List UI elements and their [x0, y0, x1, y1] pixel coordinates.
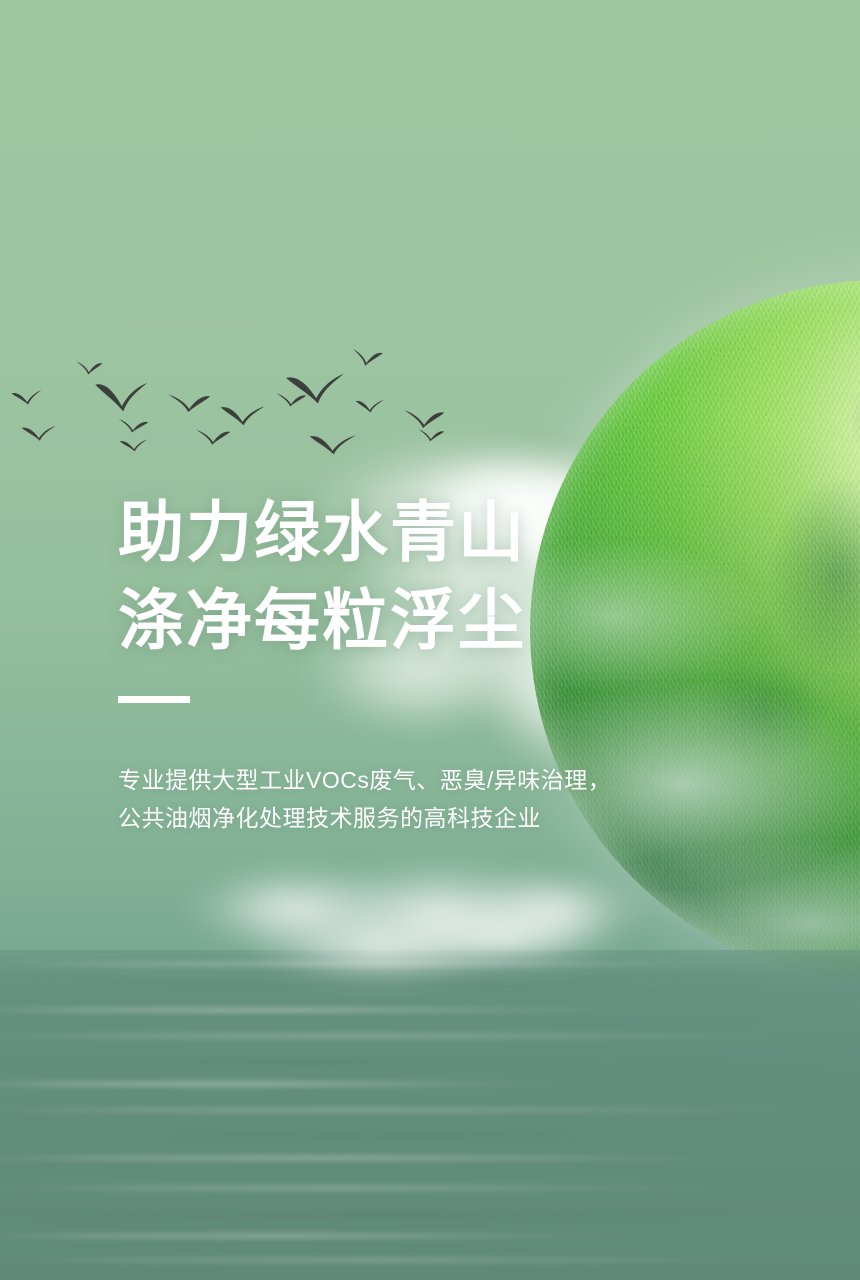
water-ripple [0, 1060, 670, 1064]
water-ripple [0, 1234, 650, 1238]
water-ripple [0, 1186, 740, 1190]
headline-line-1: 助力绿水青山 [118, 488, 678, 576]
water-ripple [0, 1108, 830, 1112]
water-ripple [0, 1258, 830, 1262]
water-ripple [0, 984, 820, 988]
subcopy-line-2: 公共油烟净化处理技术服务的高科技企业 [118, 799, 678, 837]
subcopy-line-1: 专业提供大型工业VOCs废气、恶臭/异味治理， [118, 761, 678, 799]
water-ripple [0, 1212, 820, 1216]
water-ripple [0, 1034, 820, 1038]
water-ripple [0, 1008, 640, 1012]
headline-line-2: 涤净每粒浮尘 [118, 576, 678, 664]
eco-poster: 助力绿水青山 涤净每粒浮尘 专业提供大型工业VOCs废气、恶臭/异味治理， 公共… [0, 0, 860, 1280]
water-ripple [0, 1156, 760, 1160]
copy-block: 助力绿水青山 涤净每粒浮尘 专业提供大型工业VOCs废气、恶臭/异味治理， 公共… [118, 488, 678, 837]
water-ripple [40, 1134, 740, 1138]
water-ripple [0, 1082, 570, 1086]
water-surface [0, 950, 860, 1280]
headline-divider [118, 696, 190, 703]
water-ripple [0, 962, 790, 966]
